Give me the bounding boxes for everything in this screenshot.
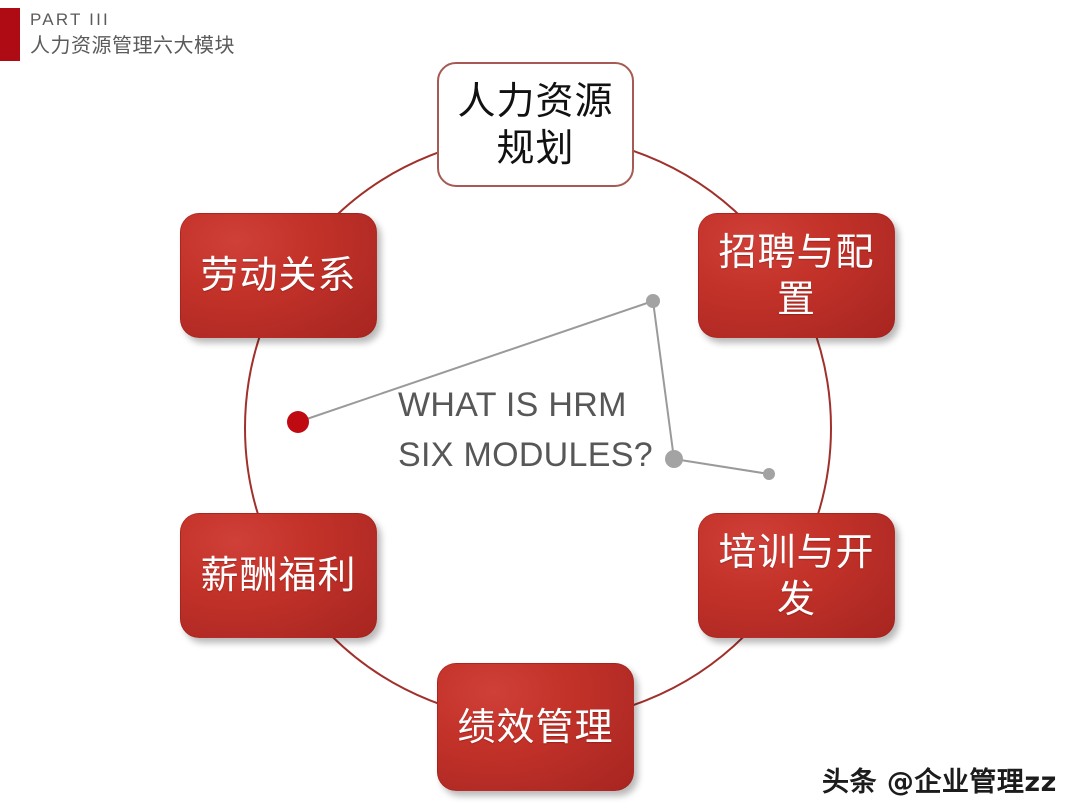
red-anchor-dot	[287, 411, 309, 433]
gray-node-upper	[646, 294, 660, 308]
module-label-compensation: 薪酬福利	[188, 552, 368, 599]
watermark: 头条 @企业管理zz	[822, 760, 1057, 799]
slide-canvas: PART III 人力资源管理六大模块 WHAT IS HRM SIX MODU…	[0, 0, 1080, 810]
module-card-labor-relations[interactable]: 劳动关系	[180, 213, 377, 338]
module-card-training[interactable]: 培训与开发	[698, 513, 895, 638]
module-label-performance: 绩效管理	[445, 704, 625, 751]
gray-node-right	[763, 468, 775, 480]
module-label-labor-relations: 劳动关系	[188, 252, 368, 299]
module-card-performance[interactable]: 绩效管理	[437, 663, 634, 791]
center-caption-line-2: SIX MODULES?	[398, 430, 688, 480]
center-caption: WHAT IS HRM SIX MODULES?	[398, 380, 688, 480]
module-card-recruitment[interactable]: 招聘与配置	[698, 213, 895, 338]
module-card-compensation[interactable]: 薪酬福利	[180, 513, 377, 638]
center-caption-line-1: WHAT IS HRM	[398, 380, 688, 430]
module-label-recruitment: 招聘与配置	[699, 229, 894, 323]
module-label-planning: 人力资源规划	[439, 78, 632, 172]
module-label-training: 培训与开发	[699, 529, 894, 623]
module-card-planning[interactable]: 人力资源规划	[437, 62, 634, 187]
